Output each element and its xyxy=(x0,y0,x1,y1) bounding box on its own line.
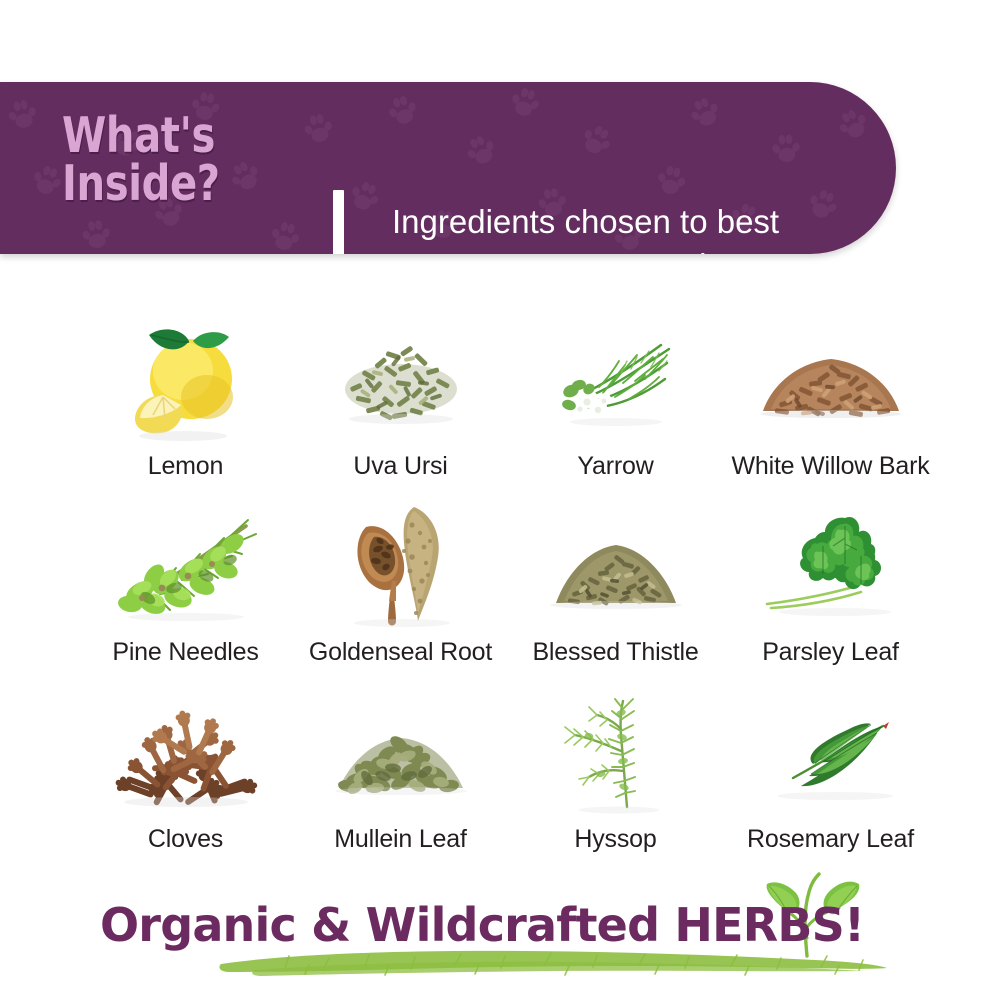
herb-item-mullein-leaf: Mullein Leaf xyxy=(293,669,508,856)
herb-label: Mullein Leaf xyxy=(334,825,466,854)
herb-item-parsley-leaf: Parsley Leaf xyxy=(723,483,938,670)
banner-tagline: Ingredients chosen to best serve your pe… xyxy=(392,200,872,254)
herb-item-white-willow-bark: White Willow Bark xyxy=(723,296,938,483)
herb-label: Rosemary Leaf xyxy=(747,825,914,854)
cloves-icon xyxy=(101,691,271,816)
herb-item-lemon: Lemon xyxy=(78,296,293,483)
header-banner: What's Inside? Ingredients chosen to bes… xyxy=(0,82,896,254)
herb-label: Parsley Leaf xyxy=(762,638,899,667)
mullein-leaf-icon xyxy=(316,691,486,816)
banner-heading: What's Inside? xyxy=(62,112,220,208)
herb-label: Blessed Thistle xyxy=(532,638,698,667)
herb-item-uva-ursi: Uva Ursi xyxy=(293,296,508,483)
uva-ursi-icon xyxy=(316,318,486,443)
herb-label: Lemon xyxy=(148,452,223,481)
herb-grid: Lemon xyxy=(78,296,938,856)
herb-label: Hyssop xyxy=(574,825,656,854)
herb-label: Yarrow xyxy=(577,452,653,481)
yarrow-icon xyxy=(531,318,701,443)
herb-label: Goldenseal Root xyxy=(309,638,492,667)
herb-item-goldenseal-root: Goldenseal Root xyxy=(293,483,508,670)
herb-label: Pine Needles xyxy=(112,638,258,667)
footer-tagline: Organic & Wildcrafted HERBS! xyxy=(100,898,864,952)
herb-item-rosemary-leaf: Rosemary Leaf xyxy=(723,669,938,856)
footer: Organic & Wildcrafted HERBS! xyxy=(0,880,1000,1000)
herb-item-pine-needles: Pine Needles xyxy=(78,483,293,670)
herb-label: Uva Ursi xyxy=(353,452,447,481)
rosemary-leaf-icon xyxy=(746,691,916,816)
blessed-thistle-icon xyxy=(531,504,701,629)
herb-item-hyssop: Hyssop xyxy=(508,669,723,856)
lemon-icon xyxy=(101,318,271,443)
herb-item-cloves: Cloves xyxy=(78,669,293,856)
herb-label: Cloves xyxy=(148,825,223,854)
herb-item-yarrow: Yarrow xyxy=(508,296,723,483)
goldenseal-root-icon xyxy=(316,504,486,629)
pine-needles-icon xyxy=(101,504,271,629)
herb-item-blessed-thistle: Blessed Thistle xyxy=(508,483,723,670)
herb-label: White Willow Bark xyxy=(731,452,929,481)
infographic-page: What's Inside? Ingredients chosen to bes… xyxy=(0,0,1000,1000)
vertical-divider-icon xyxy=(333,190,344,254)
hyssop-icon xyxy=(531,691,701,816)
white-willow-bark-icon xyxy=(746,318,916,443)
parsley-leaf-icon xyxy=(746,504,916,629)
